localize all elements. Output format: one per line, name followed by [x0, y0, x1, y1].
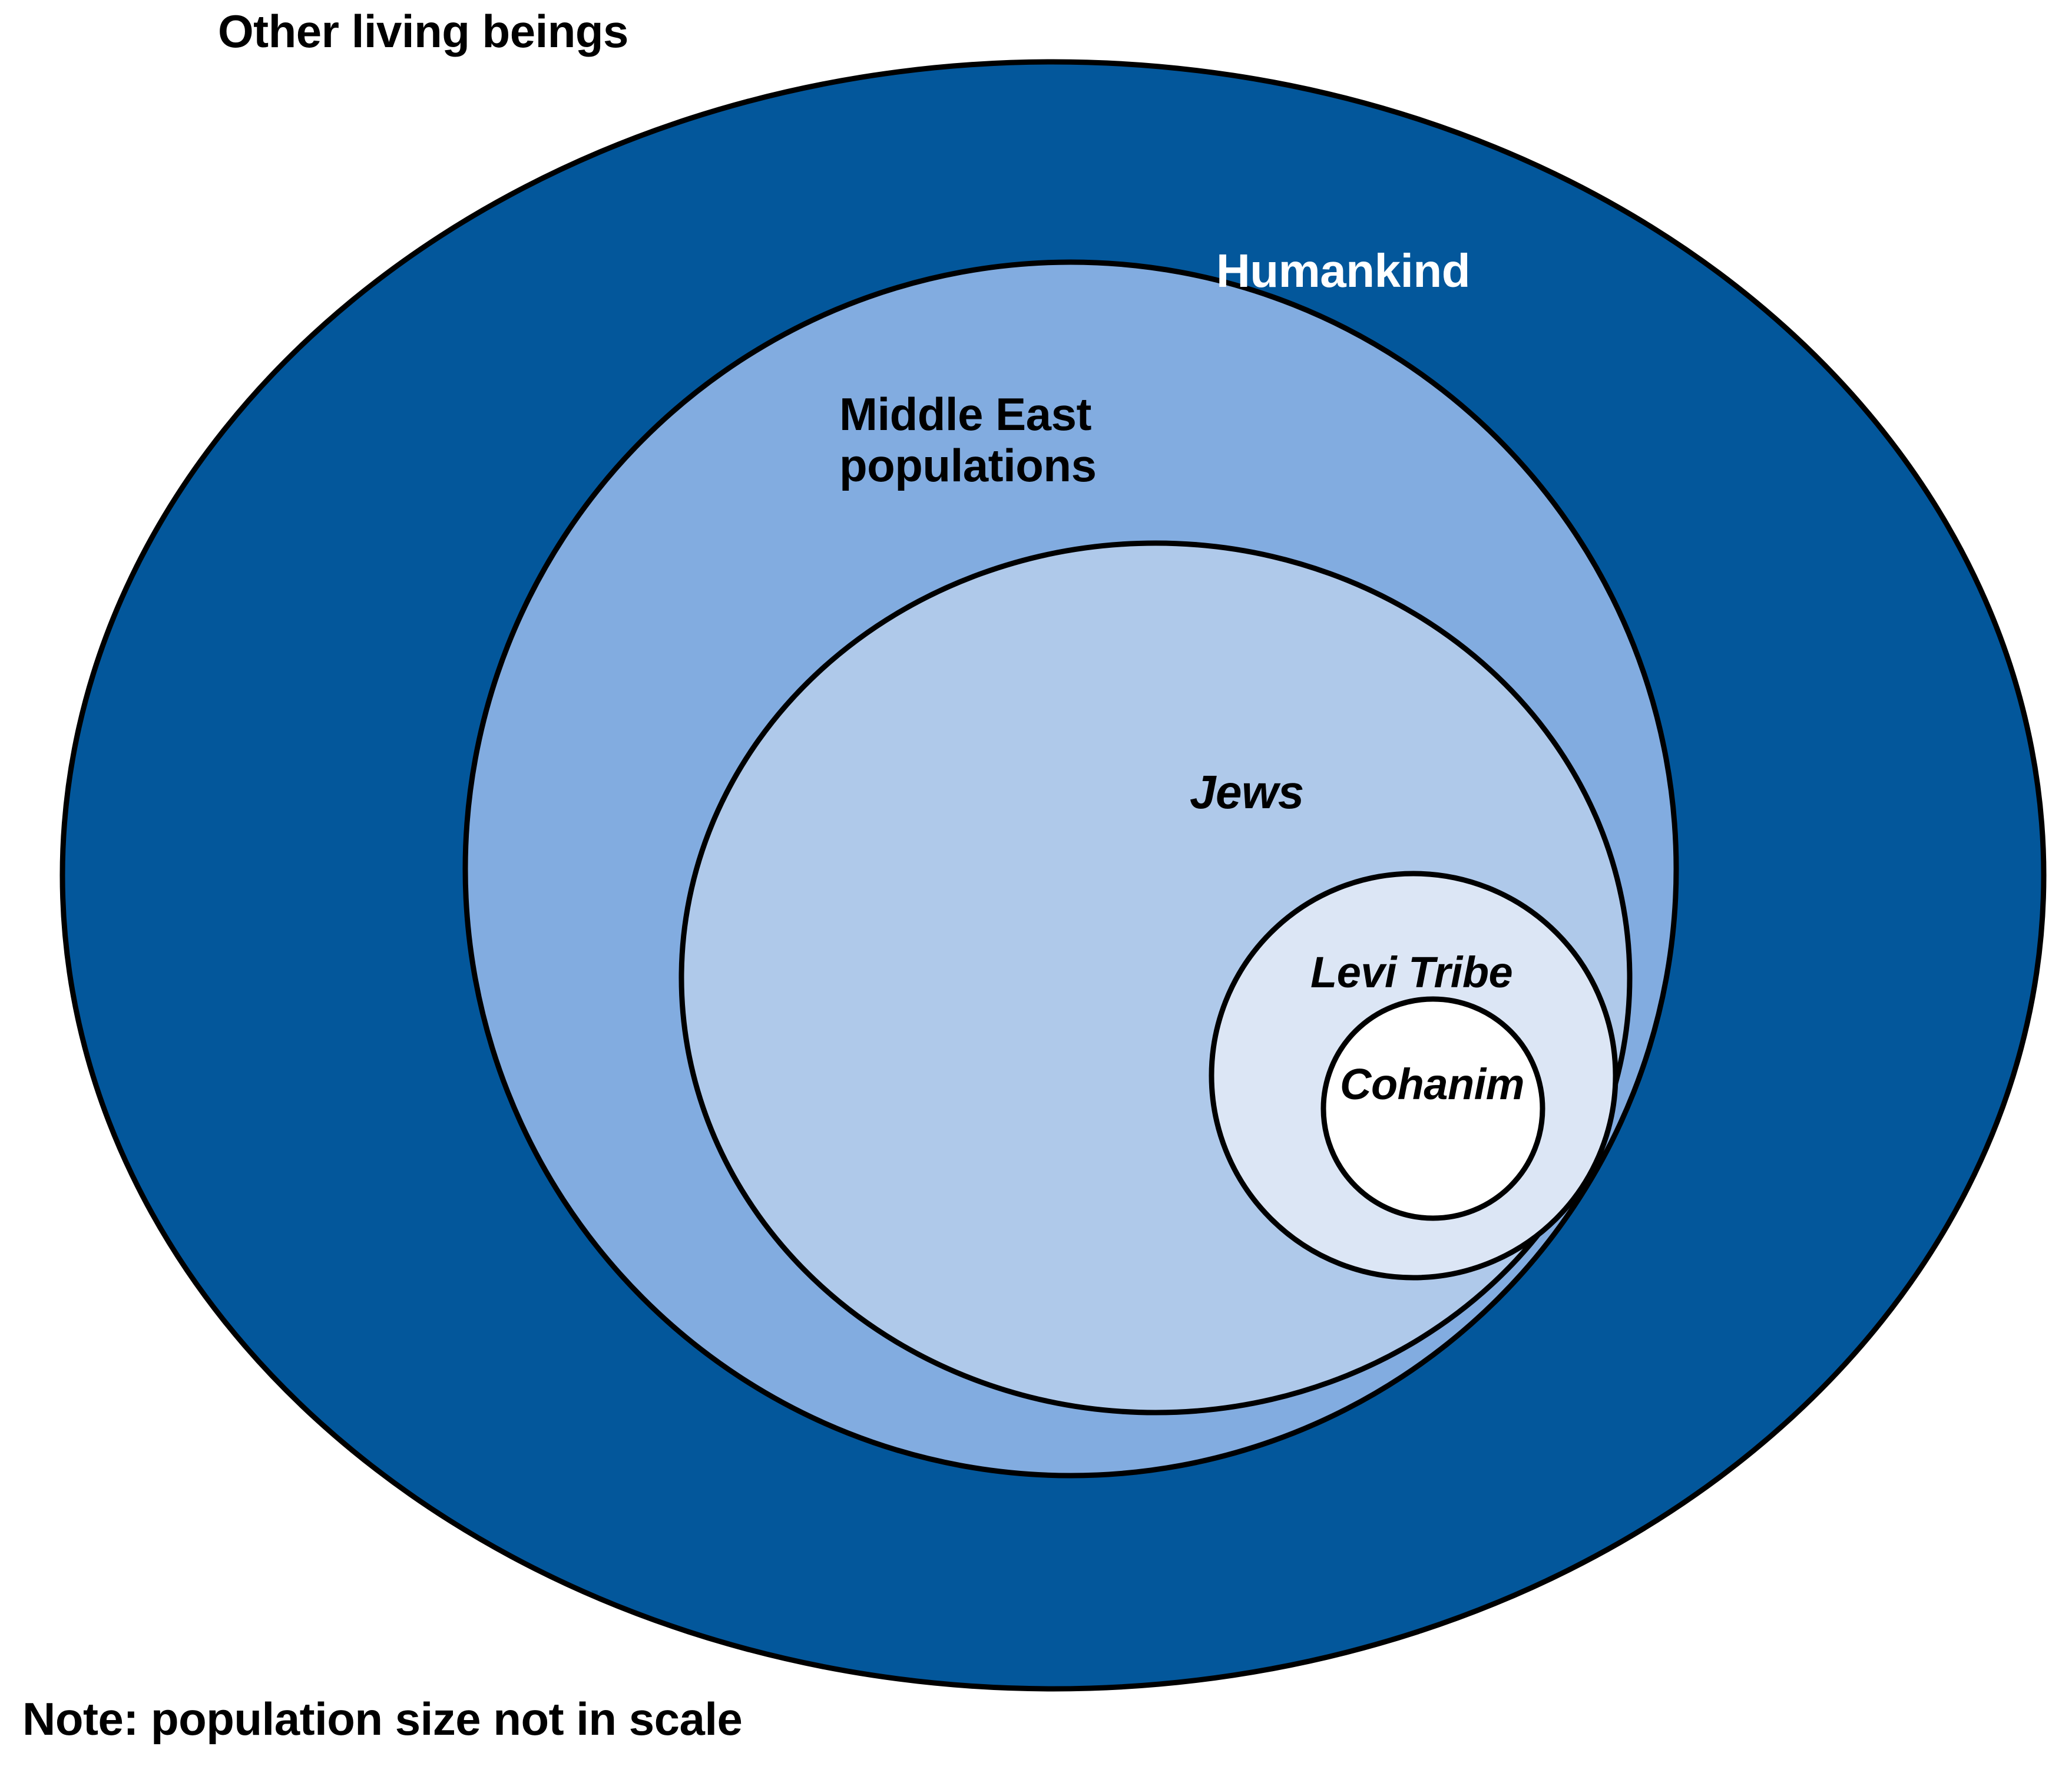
label-middle-east-line1: Middle East — [839, 388, 1091, 440]
nested-sets-diagram — [0, 0, 2072, 1766]
label-humankind: Humankind — [1216, 244, 1470, 297]
label-middle-east-line2: populations — [839, 439, 1096, 491]
label-other-living-beings: Other living beings — [218, 6, 628, 57]
label-scale-note: Note: population size not in scale — [22, 1694, 742, 1745]
label-jews: Jews — [1190, 766, 1304, 819]
label-cohanim: Cohanim — [1340, 1060, 1524, 1109]
label-middle-east-populations: Middle Eastpopulations — [839, 389, 1096, 492]
label-levi-tribe: Levi Tribe — [1310, 948, 1512, 997]
diagram-canvas: Other living beings Humankind Middle Eas… — [0, 0, 2072, 1766]
